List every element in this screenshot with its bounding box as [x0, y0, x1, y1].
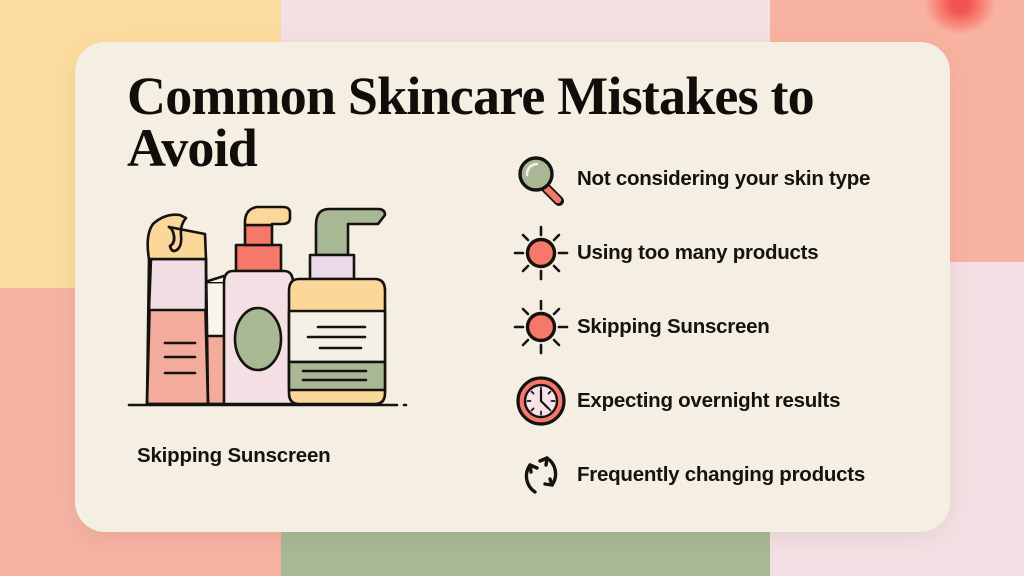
product-tube-yellow — [147, 215, 208, 404]
clock-icon — [505, 372, 577, 430]
sun-icon — [505, 298, 577, 356]
skincare-products-illustration — [123, 197, 463, 412]
illustration-caption: Skipping Sunscreen — [137, 444, 477, 468]
accent-blob — [925, 0, 995, 34]
list-item[interactable]: Skipping Sunscreen — [505, 290, 925, 364]
list-item-label: Frequently changing products — [577, 464, 865, 487]
list-item[interactable]: Expecting overnight results — [505, 364, 925, 438]
magnifier-icon — [505, 150, 577, 208]
list-item[interactable]: Frequently changing products — [505, 438, 925, 512]
mistakes-list: Not considering your skin type — [505, 142, 925, 512]
sun-icon — [505, 224, 577, 282]
list-item-label: Not considering your skin type — [577, 168, 870, 191]
list-item-label: Skipping Sunscreen — [577, 316, 770, 339]
product-bottle-pink — [224, 207, 293, 404]
list-item-label: Expecting overnight results — [577, 390, 840, 413]
list-item[interactable]: Using too many products — [505, 216, 925, 290]
refresh-icon — [505, 446, 577, 504]
content-card: Common Skincare Mistakes to Avoid — [75, 42, 950, 532]
list-item[interactable]: Not considering your skin type — [505, 142, 925, 216]
product-bottle-pump — [289, 209, 385, 404]
list-item-label: Using too many products — [577, 242, 818, 265]
